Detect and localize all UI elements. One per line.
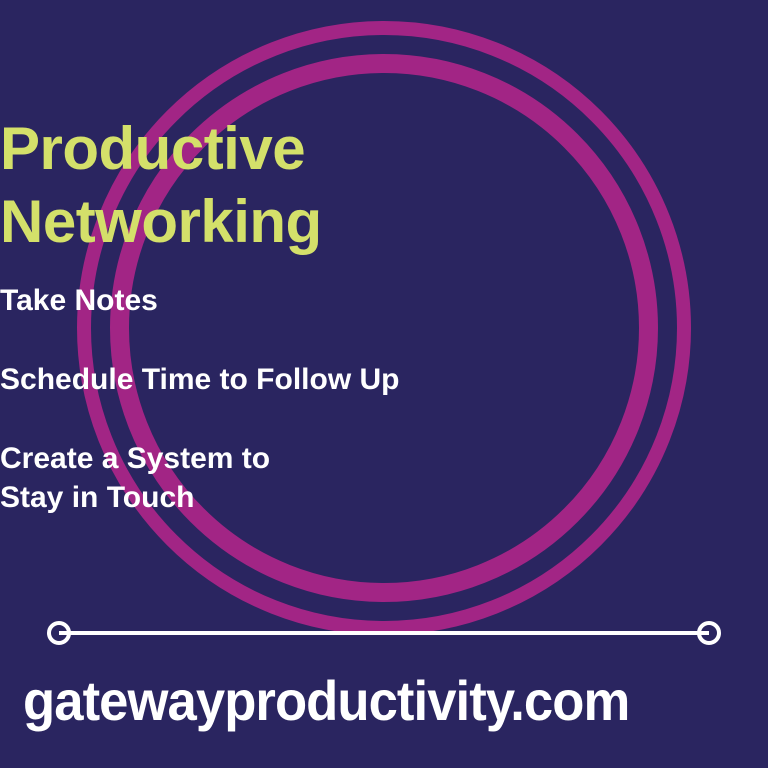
promo-graphic: Productive Networking Take Notes Schedul… [0,0,768,768]
bullet-list: Take Notes Schedule Time to Follow Up Cr… [0,286,768,513]
bullet-item-1-text: Take Notes [0,284,158,317]
divider [47,621,721,645]
bullet-item-2: Schedule Time to Follow Up [0,365,768,395]
bullet-item-3-text: Create a System to [0,442,270,475]
website-url: gatewayproductivity.com [23,668,745,733]
headline: Productive Networking [0,112,768,258]
circle-endpoint-icon-right [697,621,721,645]
bullet-item-3: Create a System to Stay in Touch [0,444,768,513]
headline-line-1: Productive [0,112,768,185]
bullet-item-2-text: Schedule Time to Follow Up [0,363,399,396]
bullet-item-3-subtext: Stay in Touch [0,483,768,513]
divider-line [59,631,709,635]
headline-line-2: Networking [0,185,768,258]
bullet-item-1: Take Notes [0,286,768,316]
